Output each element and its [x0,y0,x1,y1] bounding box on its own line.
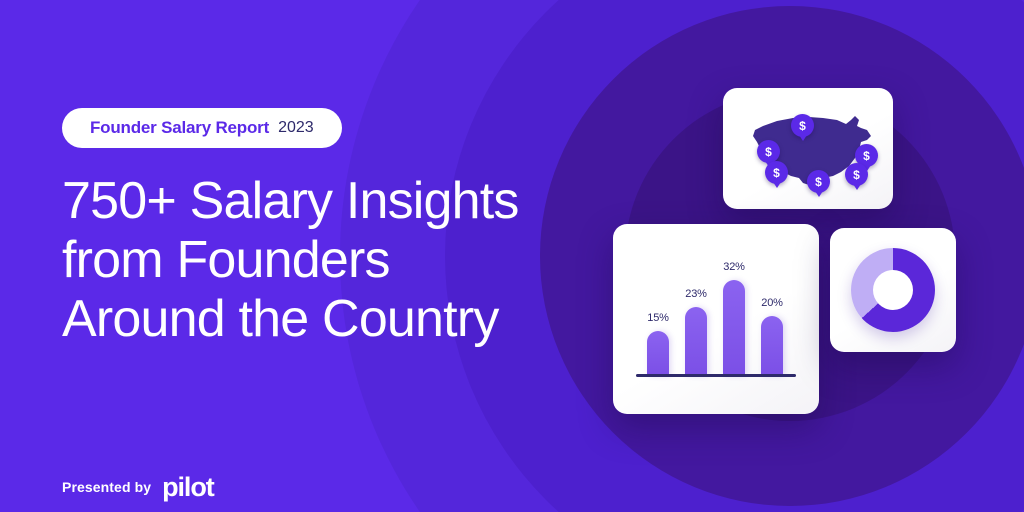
presented-by-label: Presented by [62,479,151,495]
map-card: $ $ $ $ $ $ [723,88,893,209]
map-card-inner: $ $ $ $ $ $ [723,88,893,209]
bar-label-2: 23% [685,288,706,300]
bar-chart: 15% 23% 32% 20% [613,224,819,414]
headline-line-1: 750+ Salary Insights [62,172,582,231]
donut-chart-card [830,228,956,352]
bar-label-3: 32% [723,261,744,273]
map-coin-6: $ [845,163,868,186]
content-column: Founder Salary Report 2023 750+ Salary I… [62,0,582,512]
bar-group-3: 32% [723,261,745,376]
headline-line-2: from Founders [62,231,582,290]
map-coin-3: $ [765,161,788,184]
bar-chart-card: 15% 23% 32% 20% [613,224,819,414]
map-coin-4: $ [807,170,830,193]
bar-1 [647,331,669,376]
map-coin-2: $ [757,140,780,163]
pilot-logo: pilot [162,474,213,501]
bar-group-2: 23% [685,288,707,376]
donut-chart [851,248,935,332]
bar-label-1: 15% [647,312,668,324]
badge-title: Founder Salary Report [90,118,269,138]
headline-line-3: Around the Country [62,290,582,349]
chart-axis-line [636,374,796,377]
page-title: 750+ Salary Insights from Founders Aroun… [62,172,582,349]
badge-year: 2023 [278,119,314,137]
bar-3 [723,280,745,376]
bar-group-4: 20% [761,297,783,376]
hero-banner: Founder Salary Report 2023 750+ Salary I… [0,0,1024,512]
bar-2 [685,307,707,376]
bar-label-4: 20% [761,297,782,309]
donut-ring [851,248,935,332]
donut-hole [873,270,913,310]
bar-group-1: 15% [647,312,669,376]
bar-4 [761,316,783,376]
map-coin-1: $ [791,114,814,137]
report-badge: Founder Salary Report 2023 [62,108,342,148]
presented-by: Presented by pilot [62,473,214,500]
